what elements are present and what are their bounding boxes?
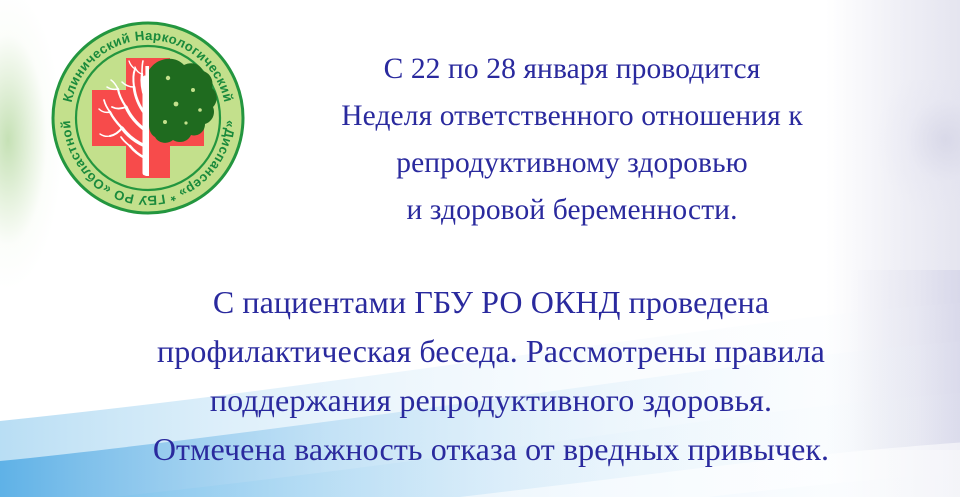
announcement-text-block: С 22 по 28 января проводится Неделя отве…	[268, 46, 876, 234]
poster-canvas: Клинический Наркологический «Диспансер» …	[0, 0, 960, 497]
organization-logo: Клинический Наркологический «Диспансер» …	[48, 18, 248, 218]
report-text-block: С пациентами ГБУ РО ОКНД проведена профи…	[74, 278, 908, 474]
report-line-3: поддержания репродуктивного здоровья.	[74, 376, 908, 425]
report-line-2: профилактическая беседа. Рассмотрены пра…	[74, 327, 908, 376]
announcement-line-1: С 22 по 28 января проводится	[268, 46, 876, 93]
report-line-4: Отмечена важность отказа от вредных прив…	[74, 425, 908, 474]
logo-emblem-icon: Клинический Наркологический «Диспансер» …	[48, 18, 248, 218]
announcement-line-3: репродуктивному здоровью	[268, 140, 876, 187]
announcement-line-4: и здоровой беременности.	[268, 187, 876, 234]
report-line-1: С пациентами ГБУ РО ОКНД проведена	[74, 278, 908, 327]
announcement-line-2: Неделя ответственного отношения к	[268, 93, 876, 140]
